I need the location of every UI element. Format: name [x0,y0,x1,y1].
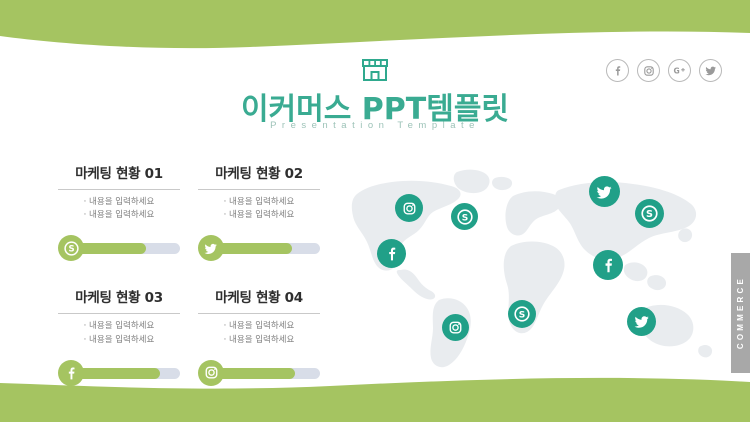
twitter-icon [596,184,613,200]
map-pin-skype[interactable]: S [635,199,664,228]
cards-row-top: 마케팅 현황 01 · 내용을 입력하세요 · 내용을 입력하세요 S [58,155,333,261]
social-links-bar: G [606,59,722,82]
side-tab-label: COMMERCE [736,276,745,349]
card-bullet-line: · 내용을 입력하세요 [198,196,320,209]
card-bullet-line: · 내용을 입력하세요 [58,334,180,347]
world-map: S S [345,160,720,375]
progress-knob-skype[interactable]: S [58,235,84,261]
svg-text:S: S [519,310,526,320]
map-pin-facebook[interactable] [377,239,406,268]
marketing-card-02[interactable]: 마케팅 현황 02 · 내용을 입력하세요 · 내용을 입력하세요 [198,155,320,261]
skype-icon: S [457,209,473,225]
map-pin-skype[interactable]: S [508,300,536,328]
progress-bar[interactable] [198,360,320,386]
marketing-card-04[interactable]: 마케팅 현황 04 · 내용을 입력하세요 · 내용을 입력하세요 [198,279,320,385]
facebook-icon [612,65,623,76]
instagram-icon [402,201,417,216]
svg-text:S: S [646,209,653,220]
facebook-icon [384,246,399,261]
card-divider [198,189,320,190]
card-bullet-line: · 내용을 입력하세요 [198,334,320,347]
facebook-icon [600,257,616,273]
social-link-instagram[interactable] [637,59,660,82]
cards-row-bottom: 마케팅 현황 03 · 내용을 입력하세요 · 내용을 입력하세요 마케팅 현황… [58,279,333,385]
social-link-facebook[interactable] [606,59,629,82]
slide-canvas: 이커머스 PPT템플릿 Presentation Template G [0,0,750,422]
instagram-icon [643,65,655,77]
side-tab-commerce: COMMERCE [731,253,750,373]
card-divider [58,189,180,190]
card-bullet-line: · 내용을 입력하세요 [198,209,320,222]
progress-bar[interactable]: S [58,235,180,261]
map-pin-instagram[interactable] [442,314,469,341]
google-plus-icon: G [673,65,686,76]
progress-knob-facebook[interactable] [58,360,84,386]
marketing-cards-grid: 마케팅 현황 01 · 내용을 입력하세요 · 내용을 입력하세요 S [58,155,333,386]
progress-knob-twitter[interactable] [198,235,224,261]
twitter-icon [204,242,218,255]
marketing-card-03[interactable]: 마케팅 현황 03 · 내용을 입력하세요 · 내용을 입력하세요 [58,279,180,385]
card-title: 마케팅 현황 02 [198,162,320,182]
instagram-icon [448,320,463,335]
progress-knob-instagram[interactable] [198,360,224,386]
card-bullet-line: · 내용을 입력하세요 [58,320,180,333]
instagram-icon [204,365,219,380]
map-pin-facebook[interactable] [593,250,623,280]
card-divider [58,313,180,314]
social-link-google-plus[interactable]: G [668,59,691,82]
page-subtitle: Presentation Template [0,120,750,131]
card-bullet-line: · 내용을 입력하세요 [58,209,180,222]
map-pin-twitter[interactable] [589,176,620,207]
map-pin-twitter[interactable] [627,307,656,336]
twitter-icon [634,314,650,329]
svg-text:S: S [68,244,74,254]
card-title: 마케팅 현황 03 [58,286,180,306]
svg-text:G: G [674,66,680,75]
twitter-icon [705,65,717,76]
card-title: 마케팅 현황 01 [58,162,180,182]
world-map-shape [345,160,720,375]
progress-bar[interactable] [198,235,320,261]
svg-text:S: S [461,213,468,223]
facebook-icon [64,366,78,380]
skype-icon: S [641,205,658,222]
map-pin-instagram[interactable] [395,194,423,222]
card-bullet-line: · 내용을 입력하세요 [58,196,180,209]
skype-icon: S [64,241,79,256]
skype-icon: S [514,306,530,322]
card-bullet-line: · 내용을 입력하세요 [198,320,320,333]
social-link-twitter[interactable] [699,59,722,82]
card-divider [198,313,320,314]
card-title: 마케팅 현황 04 [198,286,320,306]
map-pin-skype[interactable]: S [451,203,478,230]
marketing-card-01[interactable]: 마케팅 현황 01 · 내용을 입력하세요 · 내용을 입력하세요 S [58,155,180,261]
progress-bar[interactable] [58,360,180,386]
